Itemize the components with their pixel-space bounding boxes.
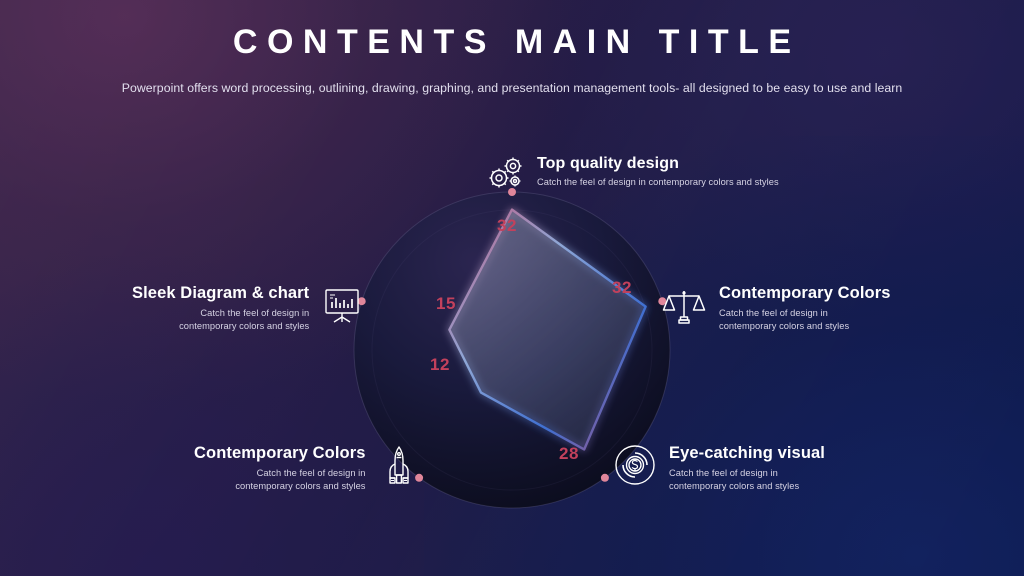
feature-top-subtitle-line1: Catch the feel of design in contemporary… [537, 176, 779, 189]
feature-bottom-right-title: Eye-catching visual [669, 444, 825, 464]
feature-right-subtitle-line1: Catch the feel of design in [719, 307, 891, 320]
feature-sleek-diagram-chart[interactable]: Sleek Diagram & chart Catch the feel of … [132, 284, 363, 334]
slide-canvas: CONTENTS MAIN TITLE Powerpoint offers wo… [0, 0, 1024, 576]
header: CONTENTS MAIN TITLE Powerpoint offers wo… [0, 0, 1024, 95]
feature-left-subtitle-line1: Catch the feel of design in [132, 307, 309, 320]
feature-top-quality-design[interactable]: Top quality design Catch the feel of des… [484, 154, 779, 194]
rocket-shuttle-icon [379, 444, 419, 488]
feature-contemporary-colors-right[interactable]: Contemporary Colors Catch the feel of de… [662, 284, 891, 334]
feature-right-text: Contemporary Colors Catch the feel of de… [719, 284, 891, 334]
feature-bottom-left-text: Contemporary Colors Catch the feel of de… [194, 444, 366, 494]
feature-eye-catching-visual[interactable]: Eye-catching visual Catch the feel of de… [614, 444, 825, 494]
feature-top-title: Top quality design [537, 154, 779, 173]
feature-contemporary-colors-bottom-left[interactable]: Contemporary Colors Catch the feel of de… [194, 444, 419, 494]
feature-left-subtitle-line2: contemporary colors and styles [132, 320, 309, 333]
radar-value-left: 15 [436, 294, 456, 314]
feature-bottom-left-subtitle-line2: contemporary colors and styles [194, 480, 366, 493]
gears-icon [484, 154, 526, 194]
page-title: CONTENTS MAIN TITLE [0, 24, 1024, 61]
feature-bottom-right-subtitle-line2: contemporary colors and styles [669, 480, 825, 493]
balance-scales-icon [662, 284, 706, 328]
coin-dollar-icon [614, 444, 656, 486]
feature-right-title: Contemporary Colors [719, 284, 891, 304]
page-subtitle: Powerpoint offers word processing, outli… [0, 81, 1024, 95]
feature-top-text: Top quality design Catch the feel of des… [537, 154, 779, 190]
radar-value-bottom-right: 28 [559, 444, 579, 464]
feature-bottom-left-subtitle-line1: Catch the feel of design in [194, 467, 366, 480]
radar-value-top: 32 [497, 216, 517, 236]
feature-left-title: Sleek Diagram & chart [132, 284, 309, 304]
feature-right-subtitle-line2: contemporary colors and styles [719, 320, 891, 333]
radar-value-right: 32 [612, 278, 632, 298]
radar-axis-dot-2 [601, 474, 609, 482]
feature-bottom-left-title: Contemporary Colors [194, 444, 366, 464]
feature-left-text: Sleek Diagram & chart Catch the feel of … [132, 284, 309, 334]
radar-value-bottom-left: 12 [430, 355, 450, 375]
presentation-chart-icon [321, 284, 363, 326]
feature-bottom-right-text: Eye-catching visual Catch the feel of de… [669, 444, 825, 494]
feature-bottom-right-subtitle-line1: Catch the feel of design in [669, 467, 825, 480]
